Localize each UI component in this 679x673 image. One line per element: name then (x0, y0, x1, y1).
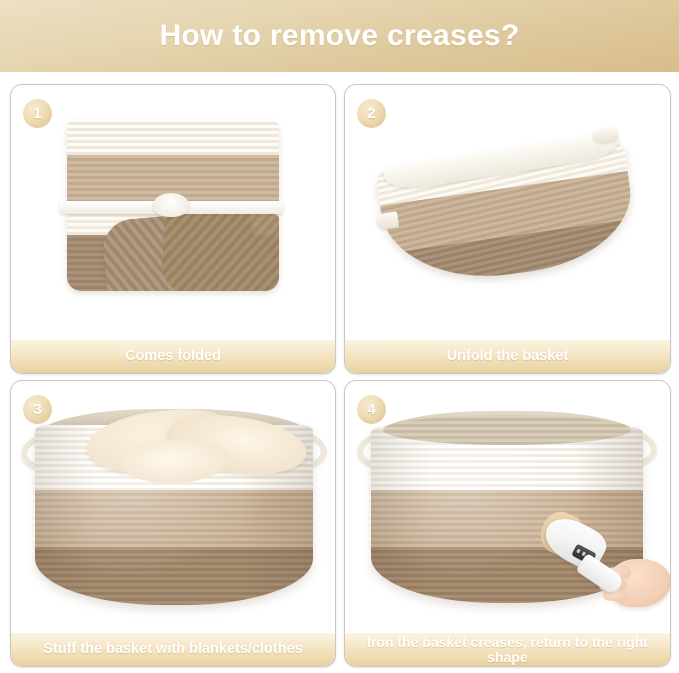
step-caption-4: Iron the basket creases, return to the r… (351, 635, 664, 665)
step-image-2: 2 (345, 85, 670, 340)
step-caption-bar-4: Iron the basket creases, return to the r… (345, 633, 670, 666)
steamer-indicator-dot (576, 549, 581, 554)
step-caption-3: Stuff the basket with blankets/clothes (43, 642, 302, 657)
folded-basket-illustration (61, 115, 285, 311)
step-card-2: 2 Unfold the basket (344, 84, 671, 374)
infographic-page: How to remove creases? 1 (0, 0, 679, 673)
step-image-1: 1 (11, 85, 335, 340)
basket-handle-left (375, 211, 399, 230)
page-title: How to remove creases? (159, 19, 519, 53)
step-card-4: 4 (344, 380, 671, 667)
ribbon-knot (153, 193, 189, 217)
step-number-badge-1: 1 (23, 99, 52, 128)
step-caption-1: Comes folded (125, 349, 221, 364)
step-number-badge-2: 2 (357, 99, 386, 128)
step-caption-bar-2: Unfold the basket (345, 340, 670, 373)
steps-grid: 1 Comes folded (0, 76, 679, 673)
header-banner: How to remove creases? (0, 0, 679, 72)
step-card-1: 1 Comes folded (10, 84, 336, 374)
step-caption-bar-1: Comes folded (11, 340, 335, 373)
step-image-3: 3 (11, 381, 335, 633)
basket-with-blankets-illustration (35, 409, 313, 605)
step-card-3: 3 Stuff the basket w (10, 380, 336, 667)
step-image-4: 4 (345, 381, 670, 633)
step-caption-bar-3: Stuff the basket with blankets/clothes (11, 633, 335, 666)
basket-interior (383, 415, 631, 445)
step-number-badge-3: 3 (23, 395, 52, 424)
step-caption-2: Unfold the basket (447, 349, 569, 364)
basket-with-steamer-illustration (371, 411, 643, 603)
unfolded-basket-illustration (373, 127, 641, 308)
step-number-badge-4: 4 (357, 395, 386, 424)
rope-band-white (67, 119, 279, 155)
